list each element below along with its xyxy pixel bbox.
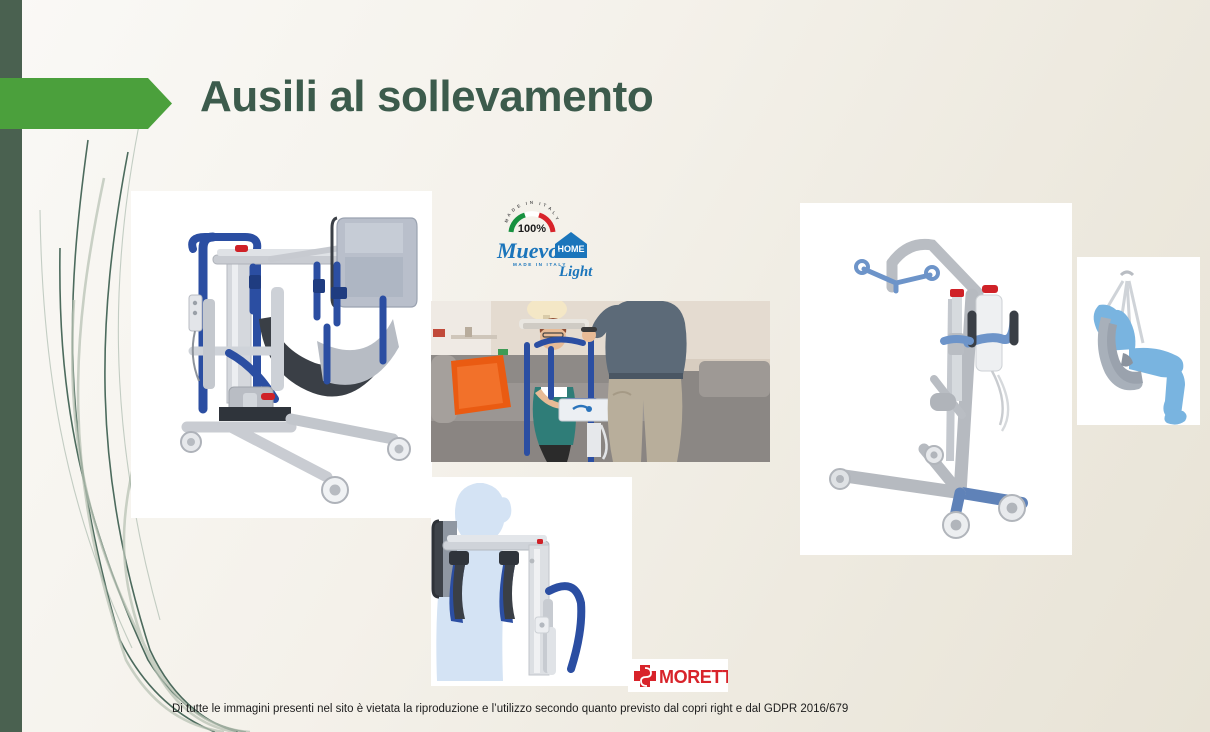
made-in-italy-badge: 100% M A D E I N I T A L Y xyxy=(503,200,560,235)
svg-text:A: A xyxy=(506,212,512,218)
svg-text:MORETTI: MORETTI xyxy=(659,667,728,687)
image-sling-silhouette xyxy=(1077,257,1200,425)
svg-text:Light: Light xyxy=(558,264,593,280)
image-lift-side-silhouette xyxy=(431,477,632,686)
svg-text:E: E xyxy=(516,203,521,209)
svg-text:N: N xyxy=(530,200,533,205)
image-hoist-lift xyxy=(800,203,1072,555)
copyright-note: Di tutte le immagini presenti nel sito è… xyxy=(172,703,1072,715)
title-banner-arrow xyxy=(0,78,172,129)
house-shape: HOME xyxy=(555,232,587,258)
svg-text:I: I xyxy=(539,201,541,206)
svg-text:T: T xyxy=(543,202,547,208)
svg-text:HOME: HOME xyxy=(558,244,585,254)
logo-moretti: MORETTI xyxy=(628,659,728,692)
svg-text:M: M xyxy=(503,218,509,224)
image-care-photo xyxy=(431,301,770,462)
presentation-slide: Ausili al sollevamento xyxy=(0,0,1210,732)
svg-text:L: L xyxy=(551,210,557,216)
page-title: Ausili al sollevamento xyxy=(200,72,653,122)
svg-text:D: D xyxy=(511,207,517,213)
svg-text:I: I xyxy=(525,201,527,206)
image-lift-front-view xyxy=(131,191,432,518)
svg-text:100%: 100% xyxy=(518,223,546,235)
svg-text:Muevo: Muevo xyxy=(496,238,559,263)
svg-text:A: A xyxy=(548,206,553,212)
logo-muevo-home-light: 100% M A D E I N I T A L Y HOME xyxy=(495,196,595,288)
svg-text:Y: Y xyxy=(554,216,560,221)
